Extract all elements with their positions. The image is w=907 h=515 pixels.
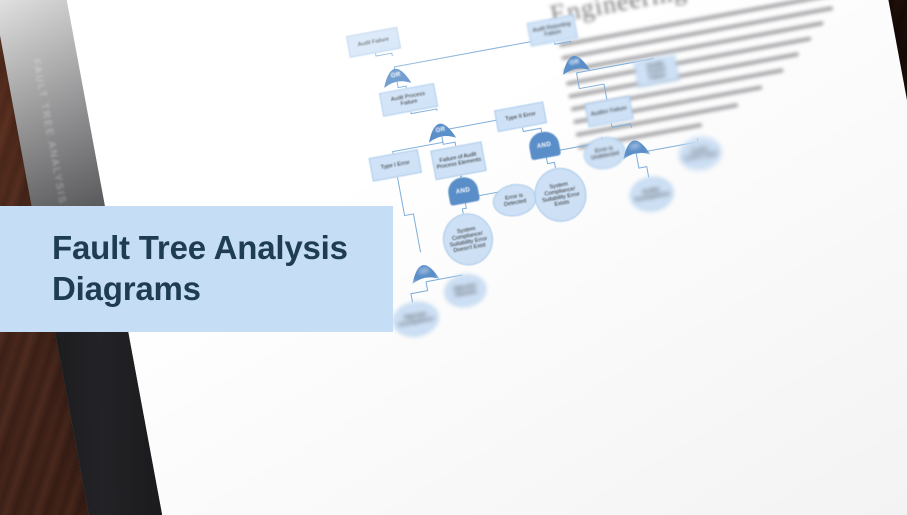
gate-label: OR (629, 142, 640, 151)
connector-line (576, 68, 606, 104)
gate-label: AND (536, 140, 552, 150)
page-title: Fault Tree Analysis Diagrams (52, 228, 382, 310)
gate-label: OR (569, 58, 580, 67)
gate-label: OR (390, 70, 401, 79)
connector-line (409, 282, 429, 303)
screenshot-canvas: FAULT TREE ANALYSIS Engineering Audit Fa… (0, 0, 907, 515)
connector-line (461, 203, 467, 214)
spine-label: FAULT TREE ANALYSIS (30, 58, 68, 205)
connector-line (637, 156, 649, 179)
gate-label: OR (418, 267, 429, 276)
gate-label: AND (455, 186, 471, 196)
gate-label: OR (435, 125, 446, 134)
title-line-2: Diagrams (52, 270, 201, 307)
connector-line (397, 176, 420, 254)
title-banner: Fault Tree Analysis Diagrams (0, 206, 393, 332)
title-line-1: Fault Tree Analysis (52, 229, 348, 266)
